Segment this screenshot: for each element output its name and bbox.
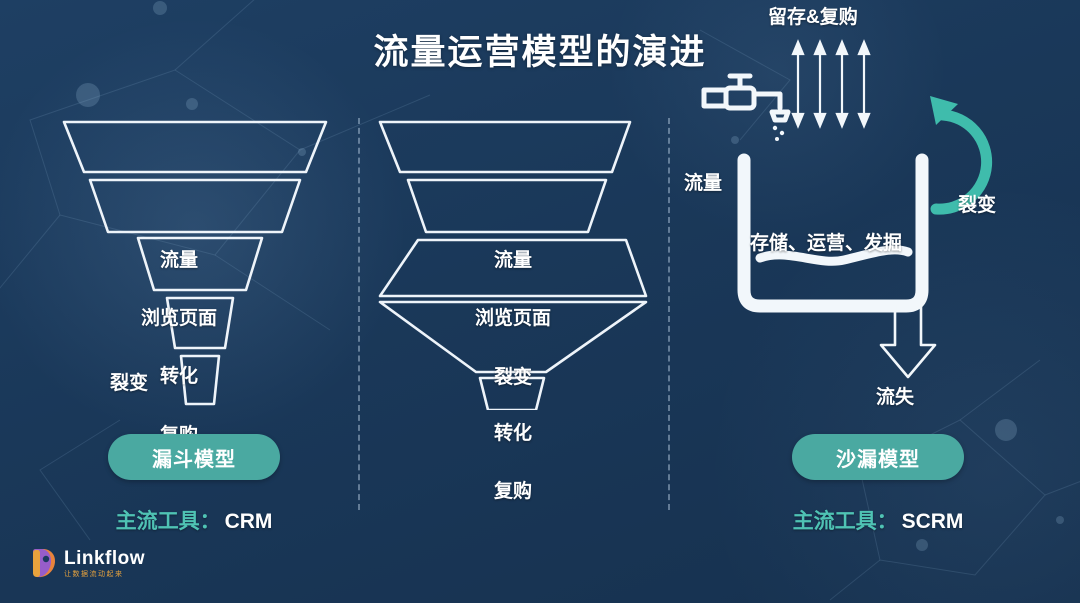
traffic-pool-diagram: 流量 留存&复购 裂变 存储、运营、发掘 流失: [668, 0, 1080, 430]
funnel-stage-1-shape: [64, 122, 326, 172]
logo-text-block: Linkflow 让数据流动起来: [64, 549, 145, 578]
slide-canvas: 流量运营模型的演进 流量 浏览页面 转化 复购 裂变 漏斗模型 主流工具：CRM: [0, 0, 1080, 603]
funnel-diagram: 流量 浏览页面 转化 复购 裂变: [0, 110, 358, 410]
funnel-stage-3-shape: [138, 238, 262, 290]
pool-fission-label: 裂变: [958, 190, 996, 217]
hourglass-stage-5-shape: [480, 378, 544, 410]
funnel-svg: [0, 110, 358, 410]
column-traffic-pool-model: 流量 留存&复购 裂变 存储、运营、发掘 流失 流量池模型 主流工具：CDP: [668, 0, 1080, 603]
hourglass-diagram: 流量 浏览页面 裂变 转化 复购: [358, 110, 668, 410]
tool-caption-funnel: 主流工具：CRM: [44, 505, 344, 535]
pool-operations-label: 存储、运营、发掘: [750, 228, 902, 255]
hourglass-stage-1-shape: [380, 122, 630, 172]
logo-tagline: 让数据流动起来: [64, 571, 145, 578]
pool-inflow-label: 流量: [684, 168, 722, 195]
column-hourglass-model: 流量 浏览页面 裂变 转化 复购 沙漏模型 主流工具：SCRM: [358, 0, 668, 603]
hourglass-svg: [358, 110, 668, 410]
hourglass-stage-4-shape: [380, 302, 646, 372]
traffic-pool-svg: [668, 0, 1080, 430]
funnel-stage-2-shape: [90, 180, 300, 232]
pool-retention-label: 留存&复购: [768, 2, 858, 29]
tool-name-label: CRM: [225, 510, 273, 533]
model-pill-funnel[interactable]: 漏斗模型: [108, 434, 280, 480]
funnel-tail-shape: [181, 356, 219, 404]
churn-arrow: [881, 305, 935, 377]
pool-churn-label: 流失: [876, 382, 914, 409]
retention-arrows: [793, 42, 869, 126]
hourglass-stage-5-label: 复购: [358, 476, 668, 503]
logo-wordmark: Linkflow: [64, 549, 145, 568]
funnel-fission-side-label: 裂变: [110, 368, 148, 395]
hourglass-stage-4-label: 转化: [358, 418, 668, 445]
funnel-stage-4-shape: [167, 298, 233, 348]
linkflow-mark-icon: [30, 548, 56, 578]
hourglass-stage-3-shape: [380, 240, 646, 296]
water-drop-icon: [773, 126, 784, 141]
faucet-icon: [704, 76, 788, 120]
column-funnel-model: 流量 浏览页面 转化 复购 裂变 漏斗模型 主流工具：CRM: [0, 0, 358, 603]
hourglass-stage-2-shape: [408, 180, 606, 232]
tool-prefix-label: 主流工具：: [116, 510, 221, 533]
brand-logo: Linkflow 让数据流动起来: [30, 548, 145, 578]
